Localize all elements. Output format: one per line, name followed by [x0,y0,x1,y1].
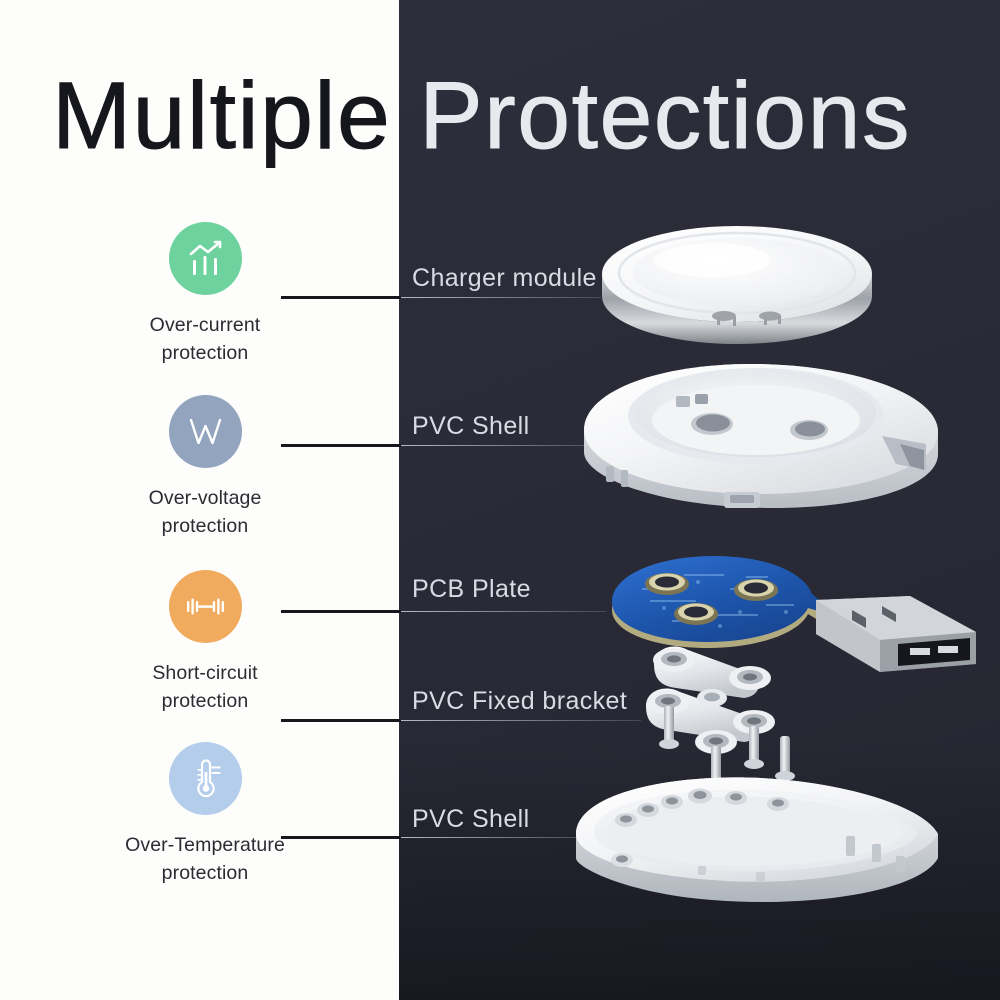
connector-line-pvc-shell-top [281,444,401,447]
feature-over-temperature: Over-Temperature protection [90,742,320,887]
feature-short-circuit: Short-circuit protection [90,570,320,715]
page-title: Multiple Protections Multiple Protection… [0,62,1000,170]
feature-over-current: Over-current protection [90,222,320,367]
dumbbell-resistor-icon [169,570,242,643]
feature-label-short-circuit: Short-circuit protection [90,659,320,715]
part-label-pvc-fixed-bracket: PVC Fixed bracket [412,687,627,716]
part-label-pcb-plate: PCB Plate [412,575,531,604]
letter-w-icon [169,395,242,468]
part-label-charger-module: Charger module [412,264,597,293]
art-pvc-shell-bottom [560,748,960,923]
thermometer-icon [169,742,242,815]
feature-label-over-temperature: Over-Temperature protection [90,831,320,887]
feature-over-voltage: Over-voltage protection [90,395,320,540]
feature-label-over-current: Over-current protection [90,311,320,367]
underline-pcb-plate [401,611,606,612]
connector-line-pcb-plate [281,610,401,613]
underline-pvc-fixed-bracket [401,720,641,721]
underline-charger-module [401,297,601,298]
art-pvc-shell-top [566,358,956,523]
connector-line-pvc-fixed-bracket [281,719,401,722]
part-label-pvc-shell-top: PVC Shell [412,412,530,441]
part-label-pvc-shell-bottom: PVC Shell [412,805,530,834]
bar-chart-trend-icon [169,222,242,295]
connector-line-pvc-shell-bottom [281,836,401,839]
feature-label-over-voltage: Over-voltage protection [90,484,320,540]
infographic-canvas: Multiple Protections Multiple Protection… [0,0,1000,1000]
art-charger-module [592,216,882,351]
connector-line-charger-module [281,296,401,299]
